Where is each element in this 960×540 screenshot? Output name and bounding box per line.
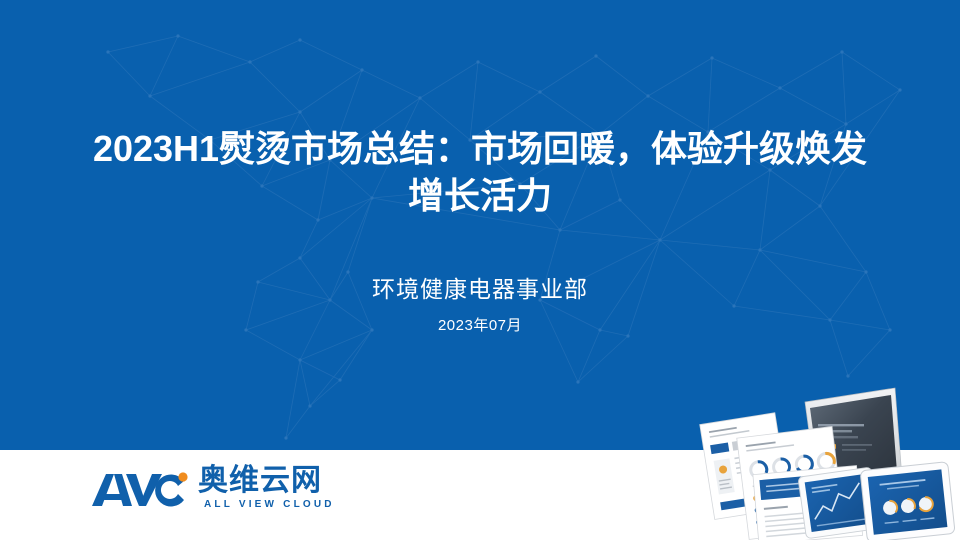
slide-subtitle-department: 环境健康电器事业部 <box>80 270 880 304</box>
avc-logomark-icon <box>92 468 192 508</box>
presentation-title-slide: 2023H1熨烫市场总结：市场回暖，体验升级焕发增长活力 环境健康电器事业部 2… <box>0 0 960 540</box>
slide-title: 2023H1熨烫市场总结：市场回暖，体验升级焕发增长活力 <box>80 126 880 220</box>
avc-logo-english-name: ALL VIEW CLOUD <box>204 499 335 510</box>
slide-date: 2023年07月 <box>80 314 880 335</box>
slide-background-blue <box>0 0 960 450</box>
avc-logo: 奥维云网 ALL VIEW CLOUD <box>92 466 342 514</box>
avc-logo-chinese-name: 奥维云网 <box>198 464 322 498</box>
